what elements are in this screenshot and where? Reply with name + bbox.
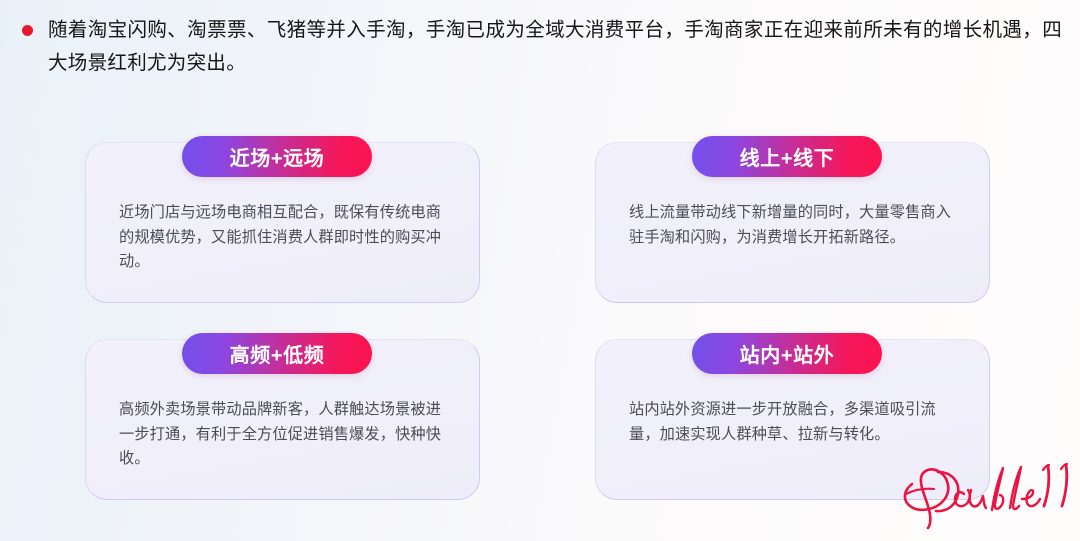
header-paragraph-text: 随着淘宝闪购、淘票票、飞猪等并入手淘，手淘已成为全域大消费平台，手淘商家正在迎来… — [48, 14, 1062, 80]
scenario-pill-high-low-frequency: 高频+低频 — [182, 333, 372, 374]
scenario-pill-onsite-offsite: 站内+站外 — [692, 333, 882, 374]
scenario-card-body: 高频外卖场景带动品牌新客，人群触达场景被进一步打通，有利于全方位促进销售爆发，快… — [119, 398, 454, 472]
scenario-pill-online-offline: 线上+线下 — [692, 136, 882, 177]
scenario-pill-near-far: 近场+远场 — [182, 136, 372, 177]
scenario-card-body: 近场门店与远场电商相互配合，既保有传统电商的规模优势，又能抓住消费人群即时性的购… — [119, 201, 454, 275]
slide-canvas: 随着淘宝闪购、淘票票、飞猪等并入手淘，手淘已成为全域大消费平台，手淘商家正在迎来… — [0, 0, 1080, 541]
header-bullet-paragraph: 随着淘宝闪购、淘票票、飞猪等并入手淘，手淘已成为全域大消费平台，手淘商家正在迎来… — [22, 14, 1062, 80]
bullet-dot-icon — [22, 25, 33, 36]
scenario-card-body: 线上流量带动线下新增量的同时，大量零售商入驻手淘和闪购，为消费增长开拓新路径。 — [629, 201, 964, 250]
scenario-card-body: 站内站外资源进一步开放融合，多渠道吸引流量，加速实现人群种草、拉新与转化。 — [629, 398, 964, 447]
